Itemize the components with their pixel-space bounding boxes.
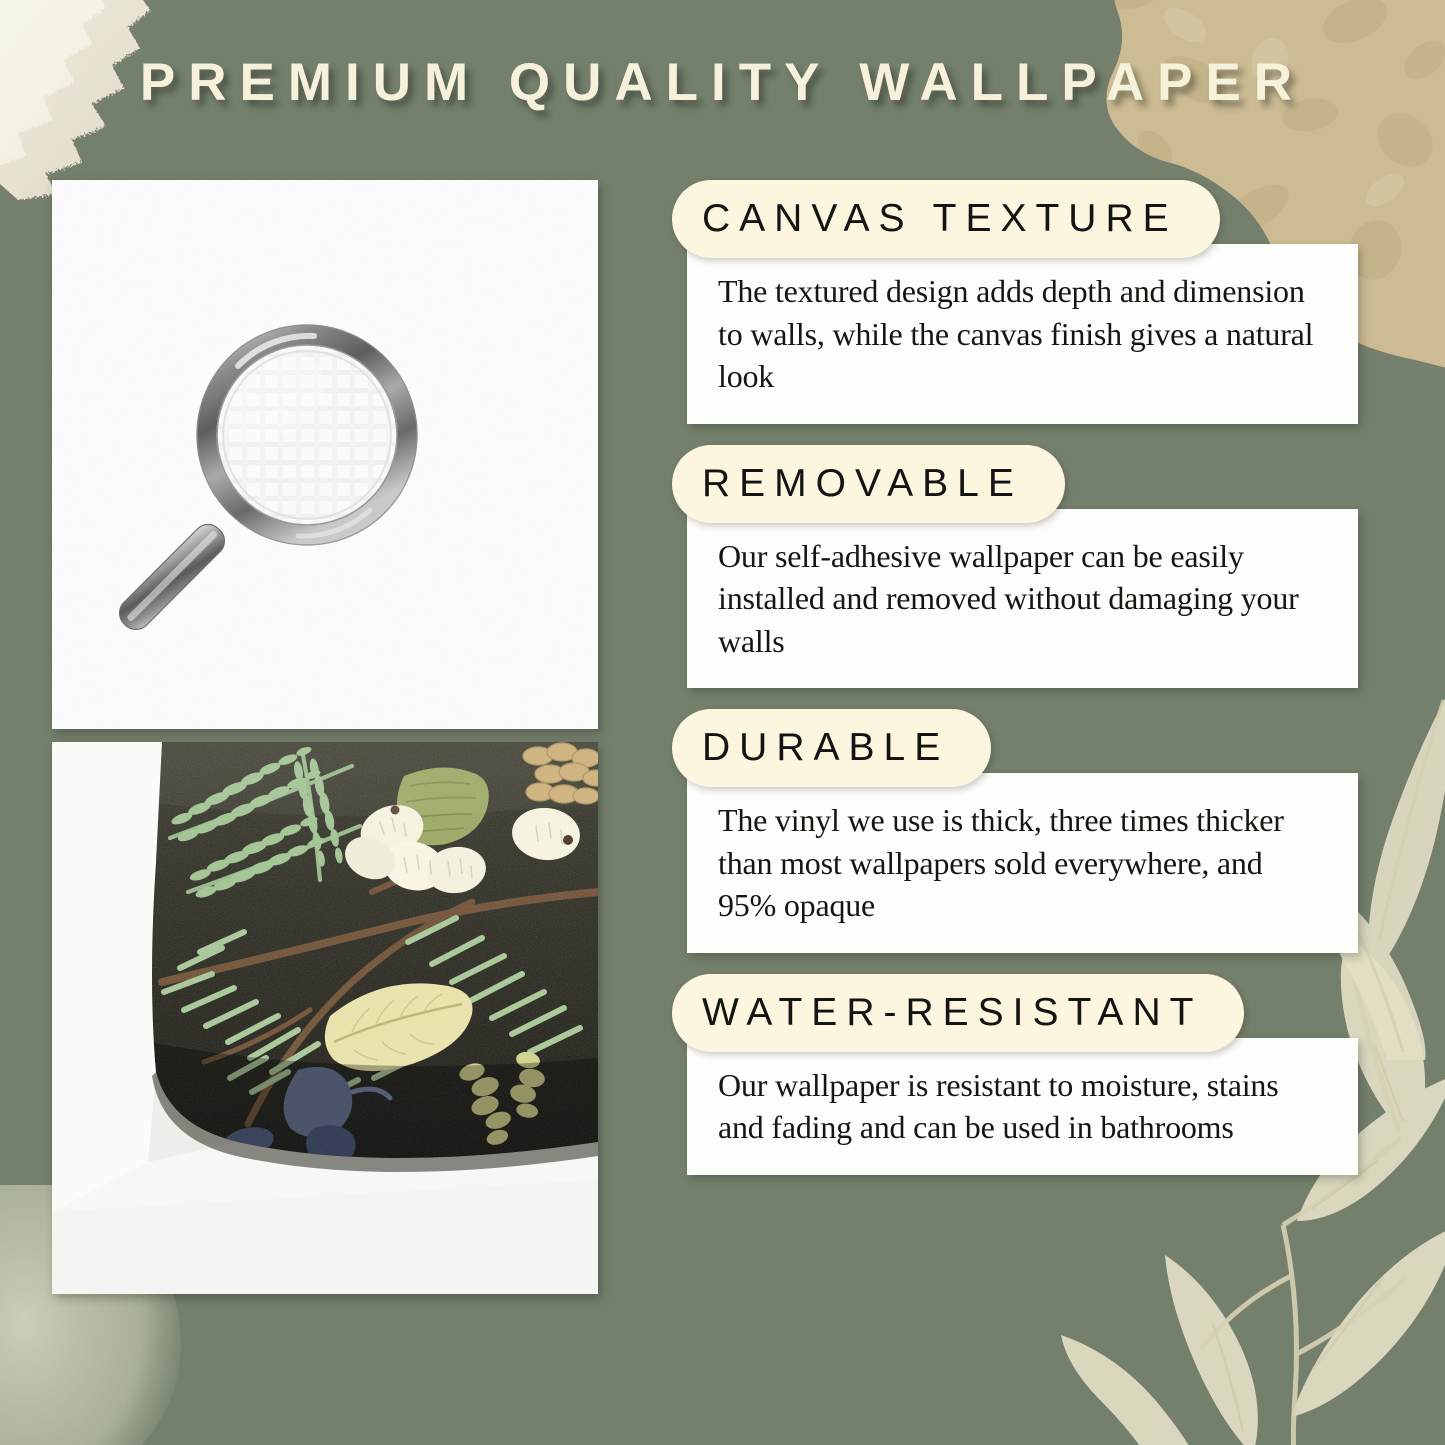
feature-pill-water-resistant: WATER-RESISTANT	[672, 974, 1244, 1052]
feature-list: CANVAS TEXTURE The textured design adds …	[672, 180, 1384, 1196]
feature-pill-removable: REMOVABLE	[672, 445, 1065, 523]
feature-title-water-resistant: WATER-RESISTANT	[702, 993, 1202, 1032]
feature-title-durable: DURABLE	[702, 728, 949, 767]
content-area: CANVAS TEXTURE The textured design adds …	[0, 0, 1445, 1445]
feature-body-durable: The vinyl we use is thick, three times t…	[687, 773, 1358, 953]
feature-body-water-resistant: Our wallpaper is resistant to moisture, …	[687, 1038, 1358, 1175]
feature-card-water-resistant: WATER-RESISTANT Our wallpaper is resista…	[672, 974, 1384, 1175]
canvas-texture-photo	[52, 180, 598, 729]
feature-text-removable: Our self-adhesive wallpaper can be easil…	[718, 535, 1328, 663]
feature-body-removable: Our self-adhesive wallpaper can be easil…	[687, 509, 1358, 689]
wallpaper-roll-photo	[52, 742, 598, 1294]
feature-pill-durable: DURABLE	[672, 709, 991, 787]
feature-text-durable: The vinyl we use is thick, three times t…	[718, 799, 1328, 927]
feature-title-canvas-texture: CANVAS TEXTURE	[702, 199, 1178, 238]
feature-card-durable: DURABLE The vinyl we use is thick, three…	[672, 709, 1384, 953]
feature-text-canvas-texture: The textured design adds depth and dimen…	[718, 270, 1328, 398]
feature-card-canvas-texture: CANVAS TEXTURE The textured design adds …	[672, 180, 1384, 424]
feature-pill-canvas-texture: CANVAS TEXTURE	[672, 180, 1220, 258]
feature-title-removable: REMOVABLE	[702, 464, 1023, 503]
feature-card-removable: REMOVABLE Our self-adhesive wallpaper ca…	[672, 445, 1384, 689]
feature-body-canvas-texture: The textured design adds depth and dimen…	[687, 244, 1358, 424]
feature-text-water-resistant: Our wallpaper is resistant to moisture, …	[718, 1064, 1328, 1149]
